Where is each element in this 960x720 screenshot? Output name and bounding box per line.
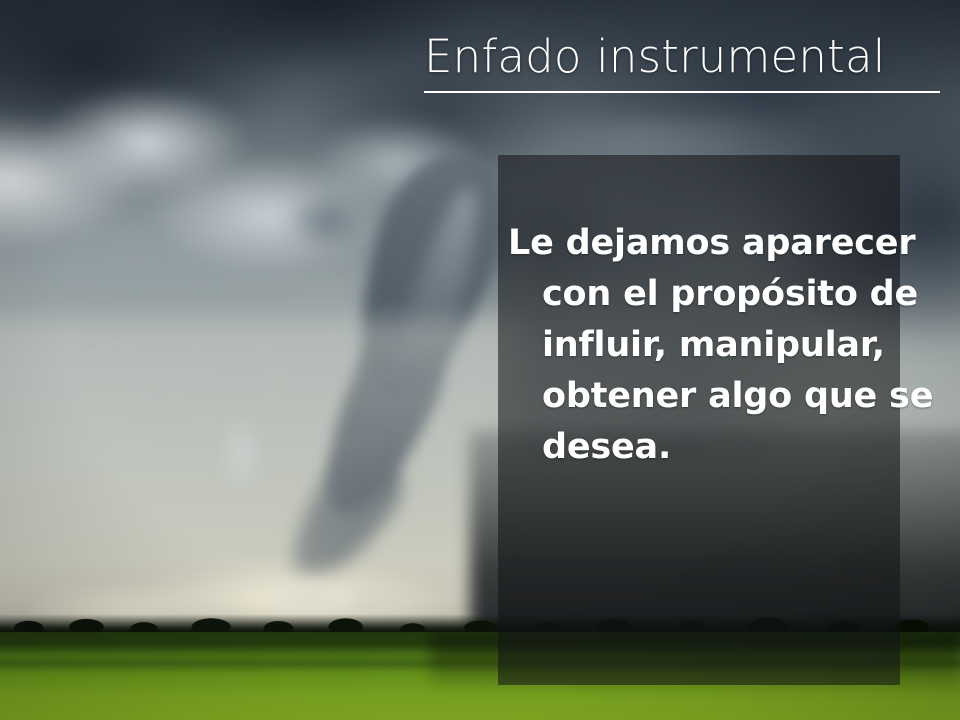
slide-title: Enfado instrumental	[424, 30, 940, 93]
secondary-vortex	[196, 396, 286, 526]
wall-cloud	[262, 176, 392, 266]
presentation-slide: Enfado instrumental Le dejamos aparecer …	[0, 0, 960, 720]
slide-body-text: Le dejamos aparecer con el propósito de …	[508, 218, 934, 473]
